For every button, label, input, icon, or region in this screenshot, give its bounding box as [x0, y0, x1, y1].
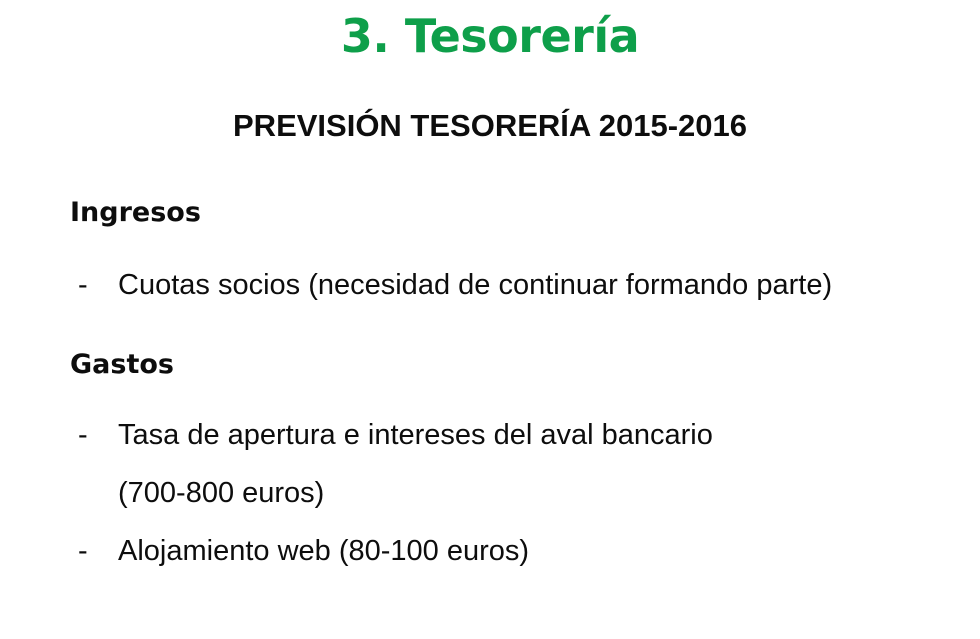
list-item-text: Alojamiento web (80-100 euros) [118, 535, 529, 567]
slide-body: Ingresos - Cuotas socios (necesidad de c… [0, 196, 980, 580]
bullet-list-gastos: - Tasa de apertura e intereses del aval … [0, 406, 980, 580]
slide-subtitle: PREVISIÓN TESORERÍA 2015-2016 [180, 104, 800, 147]
dash-bullet-icon: - [78, 406, 88, 464]
bullet-list-ingresos: - Cuotas socios (necesidad de continuar … [0, 256, 980, 314]
section-heading-gastos: Gastos [0, 348, 980, 382]
list-item-text: Tasa de apertura e intereses del aval ba… [118, 419, 713, 451]
list-item-text: Cuotas socios (necesidad de continuar fo… [118, 269, 832, 301]
dash-bullet-icon: - [78, 256, 88, 314]
spacer-after-gastos-heading [0, 382, 980, 406]
section-ingresos: Ingresos - Cuotas socios (necesidad de c… [0, 196, 980, 314]
list-item-continuation: (700-800 euros) [0, 464, 980, 522]
list-item: - Cuotas socios (necesidad de continuar … [0, 256, 980, 314]
section-spacer [0, 314, 980, 348]
section-gastos: Gastos - Tasa de apertura e intereses de… [0, 348, 980, 580]
section-heading-ingresos: Ingresos [0, 196, 980, 230]
slide-canvas: 3. Tesorería PREVISIÓN TESORERÍA 2015-20… [0, 0, 980, 639]
list-item: - Alojamiento web (80-100 euros) [0, 522, 980, 580]
slide-title: 3. Tesorería [0, 8, 980, 64]
list-item: - Tasa de apertura e intereses del aval … [0, 406, 980, 464]
dash-bullet-icon: - [78, 522, 88, 580]
spacer-after-ingresos-heading [0, 230, 980, 256]
